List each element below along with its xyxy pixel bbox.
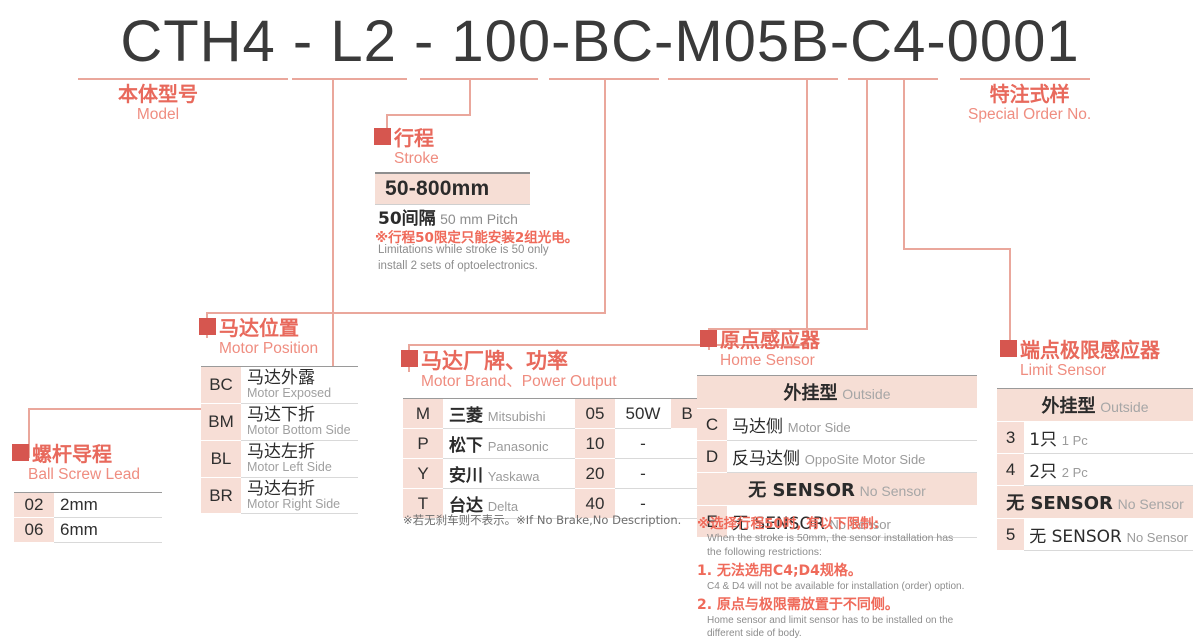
bullet-square-lead [12, 444, 29, 461]
line-home-drop [866, 78, 868, 330]
table-row: P 松下 Panasonic 10 - [403, 429, 703, 459]
home-sensor-band2-en: No Sensor [860, 483, 926, 499]
bullet-square-stroke [374, 128, 391, 145]
brand-power-code-0: 05 [575, 399, 615, 429]
section-motor-brand-title-en: Motor Brand、Power Output [421, 373, 617, 390]
table-motor-position: BC 马达外露 Motor Exposed BM 马达下折 Motor Bott… [201, 366, 358, 514]
home-sensor-footnote: ※选择行程50时, 有以下限制: When the stroke is 50mm… [697, 512, 997, 640]
section-limit-sensor: 端点极限感应器 Limit Sensor [1000, 340, 1160, 379]
table-row: C 马达侧 Motor Side [697, 409, 977, 441]
table-row: BC 马达外露 Motor Exposed [201, 367, 358, 404]
section-limit-sensor-title-en: Limit Sensor [1020, 362, 1160, 379]
section-special-title-en: Special Order No. [968, 106, 1091, 123]
motor-position-en-0: Motor Exposed [247, 387, 352, 401]
section-special-title-cn: 特注式样 [968, 84, 1091, 105]
table-row: M 三菱 Mitsubishi 05 50W B [403, 399, 703, 429]
section-stroke-title-en: Stroke [394, 150, 439, 167]
limit-sensor-code-0: 3 [997, 422, 1024, 454]
footnote-title-en-line2: the following restrictions: [707, 546, 997, 560]
section-limit-sensor-title-cn: 端点极限感应器 [1020, 340, 1160, 361]
brand-name-cn-0: 三菱 [449, 406, 483, 426]
limit-sensor-band2-cn: 无 SENSOR [1006, 493, 1113, 514]
motor-position-desc-1: 马达下折 Motor Bottom Side [241, 403, 358, 440]
table-motor-brand: M 三菱 Mitsubishi 05 50W B P 松下 Panasonic … [403, 398, 703, 519]
section-stroke: 行程 Stroke [374, 128, 439, 167]
footnote-item2-en-line1: Home sensor and limit sensor has to be i… [707, 614, 997, 627]
section-lead-title-en: Ball Screw Lead [28, 466, 140, 483]
footnote-item2-en-line2: different side of body. [707, 627, 997, 640]
home-sensor-cn-0: 马达侧 [732, 417, 783, 437]
brand-name-cn-1: 松下 [449, 436, 483, 456]
motor-brand-note: ※若无刹车则不表示。※If No Brake,No Description. [403, 512, 681, 528]
bullet-square-motor-position [199, 318, 216, 335]
limit-sensor-cn-0: 1只 [1029, 430, 1057, 450]
stroke-pitch-en: 50 mm Pitch [440, 211, 518, 227]
footnote-title-cn: ※选择行程50时, 有以下限制: [697, 512, 997, 532]
limit-sensor-en-1: 2 Pc [1062, 465, 1088, 480]
home-sensor-desc-1: 反马达侧 OppoSite Motor Side [727, 441, 977, 473]
home-sensor-en-0: Motor Side [788, 420, 851, 435]
brand-code-2: Y [403, 459, 443, 489]
home-sensor-code-0: C [697, 409, 727, 441]
limit-sensor-desc-0: 1只 1 Pc [1024, 422, 1193, 454]
bullet-square-home-sensor [700, 330, 717, 347]
lead-value-1: 6mm [54, 518, 162, 543]
home-sensor-en-1: OppoSite Motor Side [805, 452, 926, 467]
home-sensor-code-1: D [697, 441, 727, 473]
table-row: BR 马达右折 Motor Right Side [201, 477, 358, 514]
brand-code-0: M [403, 399, 443, 429]
table-row: BM 马达下折 Motor Bottom Side [201, 403, 358, 440]
lead-code-0: 02 [14, 493, 54, 518]
footnote-item1-en: C4 & D4 will not be available for instal… [697, 580, 997, 593]
line-mpos-horiz [206, 312, 606, 314]
bullet-square-motor-brand [401, 350, 418, 367]
brand-power-2: - [615, 459, 671, 489]
section-special-order: 特注式样 Special Order No. [968, 84, 1091, 123]
lead-value-0: 2mm [54, 493, 162, 518]
brand-name-cn-2: 安川 [449, 466, 483, 486]
limit-sensor-band1-en: Outside [1100, 399, 1148, 415]
motor-position-en-3: Motor Right Side [247, 498, 352, 512]
home-sensor-band1-en: Outside [842, 386, 890, 402]
home-sensor-band1-cn: 外挂型 [784, 383, 838, 404]
brand-power-1: - [615, 429, 671, 459]
footnote-title-en: When the stroke is 50mm, the sensor inst… [697, 532, 997, 559]
brand-name-en-0: Mitsubishi [488, 409, 546, 424]
home-sensor-band-outside: 外挂型 Outside [697, 376, 977, 409]
limit-sensor-band2: 无 SENSOR No Sensor [997, 486, 1193, 519]
limit-sensor-code-2: 5 [997, 519, 1024, 551]
footnote-item2-en: Home sensor and limit sensor has to be i… [697, 614, 997, 640]
line-lead-drop [332, 78, 334, 410]
home-sensor-band1: 外挂型 Outside [697, 376, 977, 409]
table-row: BL 马达左折 Motor Left Side [201, 440, 358, 477]
home-sensor-band-no-sensor: 无 SENSOR No Sensor [697, 473, 977, 506]
bullet-square-limit-sensor [1000, 340, 1017, 357]
footnote-item2-cn: 2. 原点与极限需放置于不同侧。 [697, 594, 997, 614]
motor-position-code-1: BM [201, 403, 241, 440]
home-sensor-band2: 无 SENSOR No Sensor [697, 473, 977, 506]
limit-sensor-band1: 外挂型 Outside [997, 389, 1193, 422]
motor-position-cn-1: 马达下折 [247, 406, 352, 424]
table-limit-sensor: 外挂型 Outside 3 1只 1 Pc 4 2只 2 Pc 无 SENSOR… [997, 388, 1193, 551]
motor-position-en-2: Motor Left Side [247, 461, 352, 475]
brand-power-0: 50W [615, 399, 671, 429]
stroke-note-en: Limitations while stroke is 50 only inst… [378, 243, 549, 274]
limit-sensor-cn-1: 2只 [1029, 462, 1057, 482]
underline-sensors [848, 78, 938, 80]
motor-position-desc-2: 马达左折 Motor Left Side [241, 440, 358, 477]
section-motor-brand: 马达厂牌、功率 Motor Brand、Power Output [401, 350, 617, 390]
section-lead-title-cn: 螺杆导程 [32, 444, 112, 465]
limit-sensor-en-0: 1 Pc [1062, 433, 1088, 448]
limit-sensor-band-outside: 外挂型 Outside [997, 389, 1193, 422]
brand-power-code-1: 10 [575, 429, 615, 459]
footnote-item1-cn: 1. 无法选用C4;D4规格。 [697, 560, 997, 580]
limit-sensor-en-2: No Sensor [1127, 530, 1188, 545]
section-motor-position: 马达位置 Motor Position [199, 318, 318, 357]
motor-brand-note-en: ※If No Brake,No Description. [516, 513, 681, 527]
underline-stroke [420, 78, 538, 80]
line-stroke-drop [469, 78, 471, 116]
limit-sensor-band1-cn: 外挂型 [1042, 396, 1096, 417]
line-mpos-drop [604, 78, 606, 314]
brand-name-1: 松下 Panasonic [443, 429, 575, 459]
motor-position-desc-0: 马达外露 Motor Exposed [241, 367, 358, 404]
section-stroke-title-cn: 行程 [394, 128, 434, 149]
table-row: 02 2mm [14, 493, 162, 518]
part-number-configurator: CTH4 - L2 - 100-BC-M05B-C4-0001 本体型号 Mod… [0, 0, 1200, 601]
section-model: 本体型号 Model [118, 84, 198, 123]
stroke-range-value: 50-800mm [375, 172, 530, 205]
home-sensor-band2-cn: 无 SENSOR [748, 480, 855, 501]
brand-name-en-2: Yaskawa [488, 469, 540, 484]
underline-motor-brand [668, 78, 838, 80]
motor-position-en-1: Motor Bottom Side [247, 424, 352, 438]
table-row: 5 无 SENSOR No Sensor [997, 519, 1193, 551]
limit-sensor-desc-2: 无 SENSOR No Sensor [1024, 519, 1193, 551]
line-limit-tail [1009, 248, 1011, 340]
underline-lead [292, 78, 407, 80]
table-row: D 反马达侧 OppoSite Motor Side [697, 441, 977, 473]
table-ball-screw-lead: 02 2mm 06 6mm [14, 492, 162, 543]
brand-power-code-2: 20 [575, 459, 615, 489]
line-limit-drop [903, 78, 905, 250]
section-ball-screw-lead: 螺杆导程 Ball Screw Lead [12, 444, 140, 483]
section-motor-position-title-en: Motor Position [219, 340, 318, 357]
limit-sensor-band2-en: No Sensor [1118, 496, 1184, 512]
stroke-note-en-line2: install 2 sets of optoelectronics. [378, 259, 549, 275]
motor-position-desc-3: 马达右折 Motor Right Side [241, 477, 358, 514]
footnote-title-en-line1: When the stroke is 50mm, the sensor inst… [707, 532, 997, 546]
motor-position-code-0: BC [201, 367, 241, 404]
table-row: Y 安川 Yaskawa 20 - [403, 459, 703, 489]
line-brand-drop [806, 78, 808, 346]
section-home-sensor-title-en: Home Sensor [720, 352, 820, 369]
section-home-sensor: 原点感应器 Home Sensor [700, 330, 820, 369]
brand-name-en-1: Panasonic [488, 439, 549, 454]
motor-position-cn-3: 马达右折 [247, 480, 352, 498]
section-motor-position-title-cn: 马达位置 [219, 318, 299, 339]
brand-name-0: 三菱 Mitsubishi [443, 399, 575, 429]
section-motor-brand-title-cn: 马达厂牌、功率 [421, 350, 568, 372]
table-row: 06 6mm [14, 518, 162, 543]
line-stroke-horiz [386, 114, 471, 116]
home-sensor-desc-0: 马达侧 Motor Side [727, 409, 977, 441]
limit-sensor-cn-2: 无 SENSOR [1029, 527, 1122, 547]
motor-brand-note-cn: ※若无刹车则不表示。 [403, 513, 516, 527]
brand-name-2: 安川 Yaskawa [443, 459, 575, 489]
underline-model [78, 78, 288, 80]
motor-position-code-3: BR [201, 477, 241, 514]
part-number: CTH4 - L2 - 100-BC-M05B-C4-0001 [0, 8, 1200, 75]
motor-position-cn-0: 马达外露 [247, 369, 352, 387]
table-row: 3 1只 1 Pc [997, 422, 1193, 454]
limit-sensor-band-no-sensor: 无 SENSOR No Sensor [997, 486, 1193, 519]
limit-sensor-desc-1: 2只 2 Pc [1024, 454, 1193, 486]
section-home-sensor-title-cn: 原点感应器 [720, 330, 820, 351]
section-model-title-en: Model [118, 106, 198, 123]
table-row: 4 2只 2 Pc [997, 454, 1193, 486]
line-limit-horiz [903, 248, 1011, 250]
home-sensor-cn-1: 反马达侧 [732, 449, 800, 469]
stroke-note-en-line1: Limitations while stroke is 50 only [378, 243, 549, 259]
underline-special [960, 78, 1090, 80]
lead-code-1: 06 [14, 518, 54, 543]
limit-sensor-code-1: 4 [997, 454, 1024, 486]
brand-code-1: P [403, 429, 443, 459]
motor-position-code-2: BL [201, 440, 241, 477]
motor-position-cn-2: 马达左折 [247, 443, 352, 461]
section-model-title-cn: 本体型号 [118, 84, 198, 105]
